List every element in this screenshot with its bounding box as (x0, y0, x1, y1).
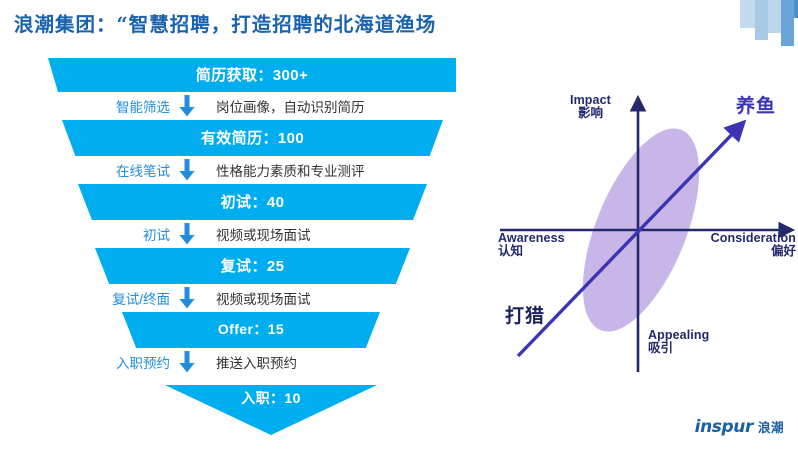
deco-bar-2 (755, 0, 768, 40)
deco-bar-3 (768, 0, 781, 33)
deco-bar-1 (740, 0, 755, 28)
annotation-hunting: 打猎 (505, 301, 545, 328)
axis-label-impact-cn: 影响 (570, 107, 611, 120)
axis-label-consideration: Consideration 偏好 (711, 232, 796, 258)
funnel-stage-4: 复试：25 (95, 248, 410, 284)
strategy-quadrant-chart: Impact 影响 Awareness 认知 Consideration 偏好 … (492, 82, 798, 387)
down-arrow-icon (170, 351, 204, 373)
funnel-stage-2-label: 有效简历：100 (201, 127, 304, 148)
inspur-logo: inspur 浪潮 (695, 417, 784, 437)
funnel-connector-4-step: 复试/终面 (60, 288, 170, 308)
deco-bar-4 (781, 0, 794, 46)
recruitment-funnel: 简历获取：300+ 智能筛选 岗位画像，自动识别简历 有效简历：100 在线笔试… (0, 58, 500, 438)
funnel-connector-2: 在线笔试 性格能力素质和专业测评 (60, 156, 460, 184)
funnel-stage-1-label: 简历获取：300+ (196, 64, 308, 85)
down-arrow-icon (170, 95, 204, 117)
funnel-connector-1: 智能筛选 岗位画像，自动识别简历 (60, 92, 460, 120)
logo-text-cn: 浪潮 (758, 417, 784, 436)
funnel-stage-5-label: Offer：15 (218, 319, 284, 339)
slide-canvas: 浪潮集团：“智慧招聘，打造招聘的北海道渔场 简历获取：300+ 智能筛选 岗位画… (0, 0, 798, 449)
down-arrow-icon (170, 159, 204, 181)
funnel-connector-5-step: 入职预约 (60, 352, 170, 372)
axis-label-awareness-cn: 认知 (498, 245, 565, 258)
corner-decoration (740, 0, 798, 60)
down-arrow-icon (170, 287, 204, 309)
funnel-connector-1-desc: 岗位画像，自动识别简历 (216, 96, 365, 116)
funnel-connector-3: 初试 视频或现场面试 (60, 220, 460, 248)
axis-label-impact: Impact 影响 (570, 94, 611, 120)
funnel-stage-4-label: 复试：25 (221, 255, 285, 276)
axis-label-awareness: Awareness 认知 (498, 232, 565, 258)
axis-label-appealing: Appealing 吸引 (648, 329, 709, 355)
funnel-connector-4-desc: 视频或现场面试 (216, 288, 311, 308)
logo-text-en: inspur (695, 417, 753, 437)
funnel-stage-3: 初试：40 (78, 184, 427, 220)
funnel-connector-3-step: 初试 (60, 224, 170, 244)
funnel-stage-6-label: 入职：10 (241, 384, 301, 408)
funnel-connector-2-step: 在线笔试 (60, 160, 170, 180)
annotation-fish-farming: 养鱼 (736, 91, 776, 118)
funnel-stage-6: 入职：10 (165, 385, 377, 435)
axis-label-consideration-cn: 偏好 (711, 245, 796, 258)
deco-bar-5 (794, 0, 798, 18)
funnel-stage-3-label: 初试：40 (221, 191, 285, 212)
funnel-stage-1: 简历获取：300+ (48, 58, 456, 92)
funnel-connector-4: 复试/终面 视频或现场面试 (60, 284, 460, 312)
funnel-connector-2-desc: 性格能力素质和专业测评 (216, 160, 365, 180)
funnel-connector-5-desc: 推送入职预约 (216, 352, 297, 372)
funnel-connector-5: 入职预约 推送入职预约 (60, 348, 460, 376)
funnel-connector-1-step: 智能筛选 (60, 96, 170, 116)
page-title: 浪潮集团：“智慧招聘，打造招聘的北海道渔场 (14, 8, 436, 37)
funnel-connector-3-desc: 视频或现场面试 (216, 224, 311, 244)
funnel-stage-5: Offer：15 (122, 312, 380, 348)
down-arrow-icon (170, 223, 204, 245)
axis-label-appealing-cn: 吸引 (648, 342, 709, 355)
funnel-stage-2: 有效简历：100 (62, 120, 443, 156)
